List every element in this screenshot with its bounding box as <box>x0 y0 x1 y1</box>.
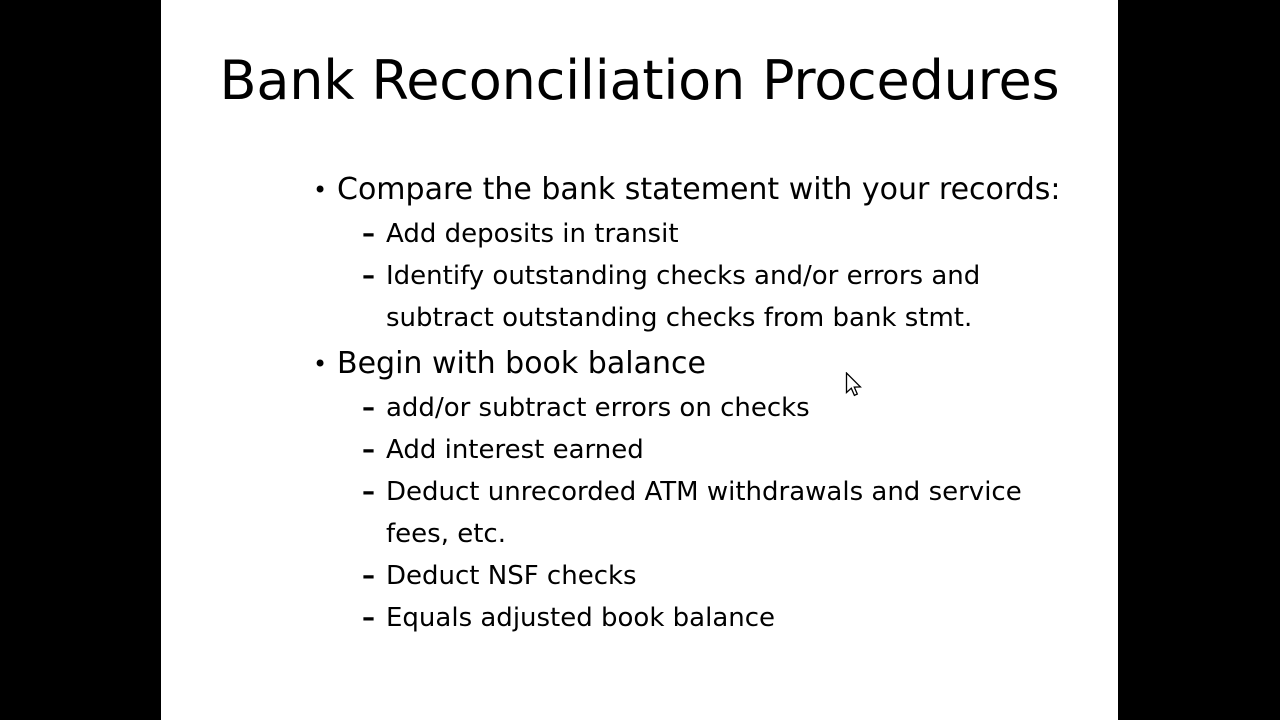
bullet-dash-icon: – <box>362 597 375 639</box>
bullet-level2-text: Add interest earned <box>386 429 1067 471</box>
bullet-level2-text: Deduct unrecorded ATM withdrawals and se… <box>386 471 1067 555</box>
bullet-dash-icon: – <box>362 387 375 429</box>
bullet-dash-icon: – <box>362 255 375 297</box>
bullet-dash-icon: – <box>362 555 375 597</box>
bullet-level2-text: add/or subtract errors on checks <box>386 387 1067 429</box>
bullet-dash-icon: – <box>362 471 375 513</box>
letterbox-right <box>1118 0 1280 720</box>
bullet-level2: – add/or subtract errors on checks <box>307 387 1067 429</box>
presentation-viewport: Bank Reconciliation Procedures • Compare… <box>0 0 1280 720</box>
bullet-level2-text: Add deposits in transit <box>386 213 1067 255</box>
bullet-dash-icon: – <box>362 429 375 471</box>
bullet-level2: – Equals adjusted book balance <box>307 597 1067 639</box>
slide-canvas[interactable]: Bank Reconciliation Procedures • Compare… <box>161 0 1118 720</box>
bullet-level2-text: Equals adjusted book balance <box>386 597 1067 639</box>
bullet-group: • Begin with book balance – add/or subtr… <box>307 342 1067 639</box>
bullet-level1-text: Begin with book balance <box>337 346 706 381</box>
bullet-dot-icon: • <box>313 342 327 386</box>
bullet-level2-text: Identify outstanding checks and/or error… <box>386 255 1067 339</box>
bullet-level1: • Compare the bank statement with your r… <box>307 168 1067 212</box>
letterbox-left <box>0 0 161 720</box>
bullet-dot-icon: • <box>313 168 327 212</box>
bullet-level2-text: Deduct NSF checks <box>386 555 1067 597</box>
bullet-group: • Compare the bank statement with your r… <box>307 168 1067 339</box>
slide-body-placeholder: • Compare the bank statement with your r… <box>307 168 1067 639</box>
bullet-level2: – Add interest earned <box>307 429 1067 471</box>
bullet-dash-icon: – <box>362 213 375 255</box>
bullet-level2: – Deduct unrecorded ATM withdrawals and … <box>307 471 1067 555</box>
bullet-level1-text: Compare the bank statement with your rec… <box>337 172 1060 207</box>
bullet-level1: • Begin with book balance <box>307 342 1067 386</box>
slide-title: Bank Reconciliation Procedures <box>161 52 1118 110</box>
bullet-level2: – Identify outstanding checks and/or err… <box>307 255 1067 339</box>
bullet-level2: – Deduct NSF checks <box>307 555 1067 597</box>
bullet-level2: – Add deposits in transit <box>307 213 1067 255</box>
